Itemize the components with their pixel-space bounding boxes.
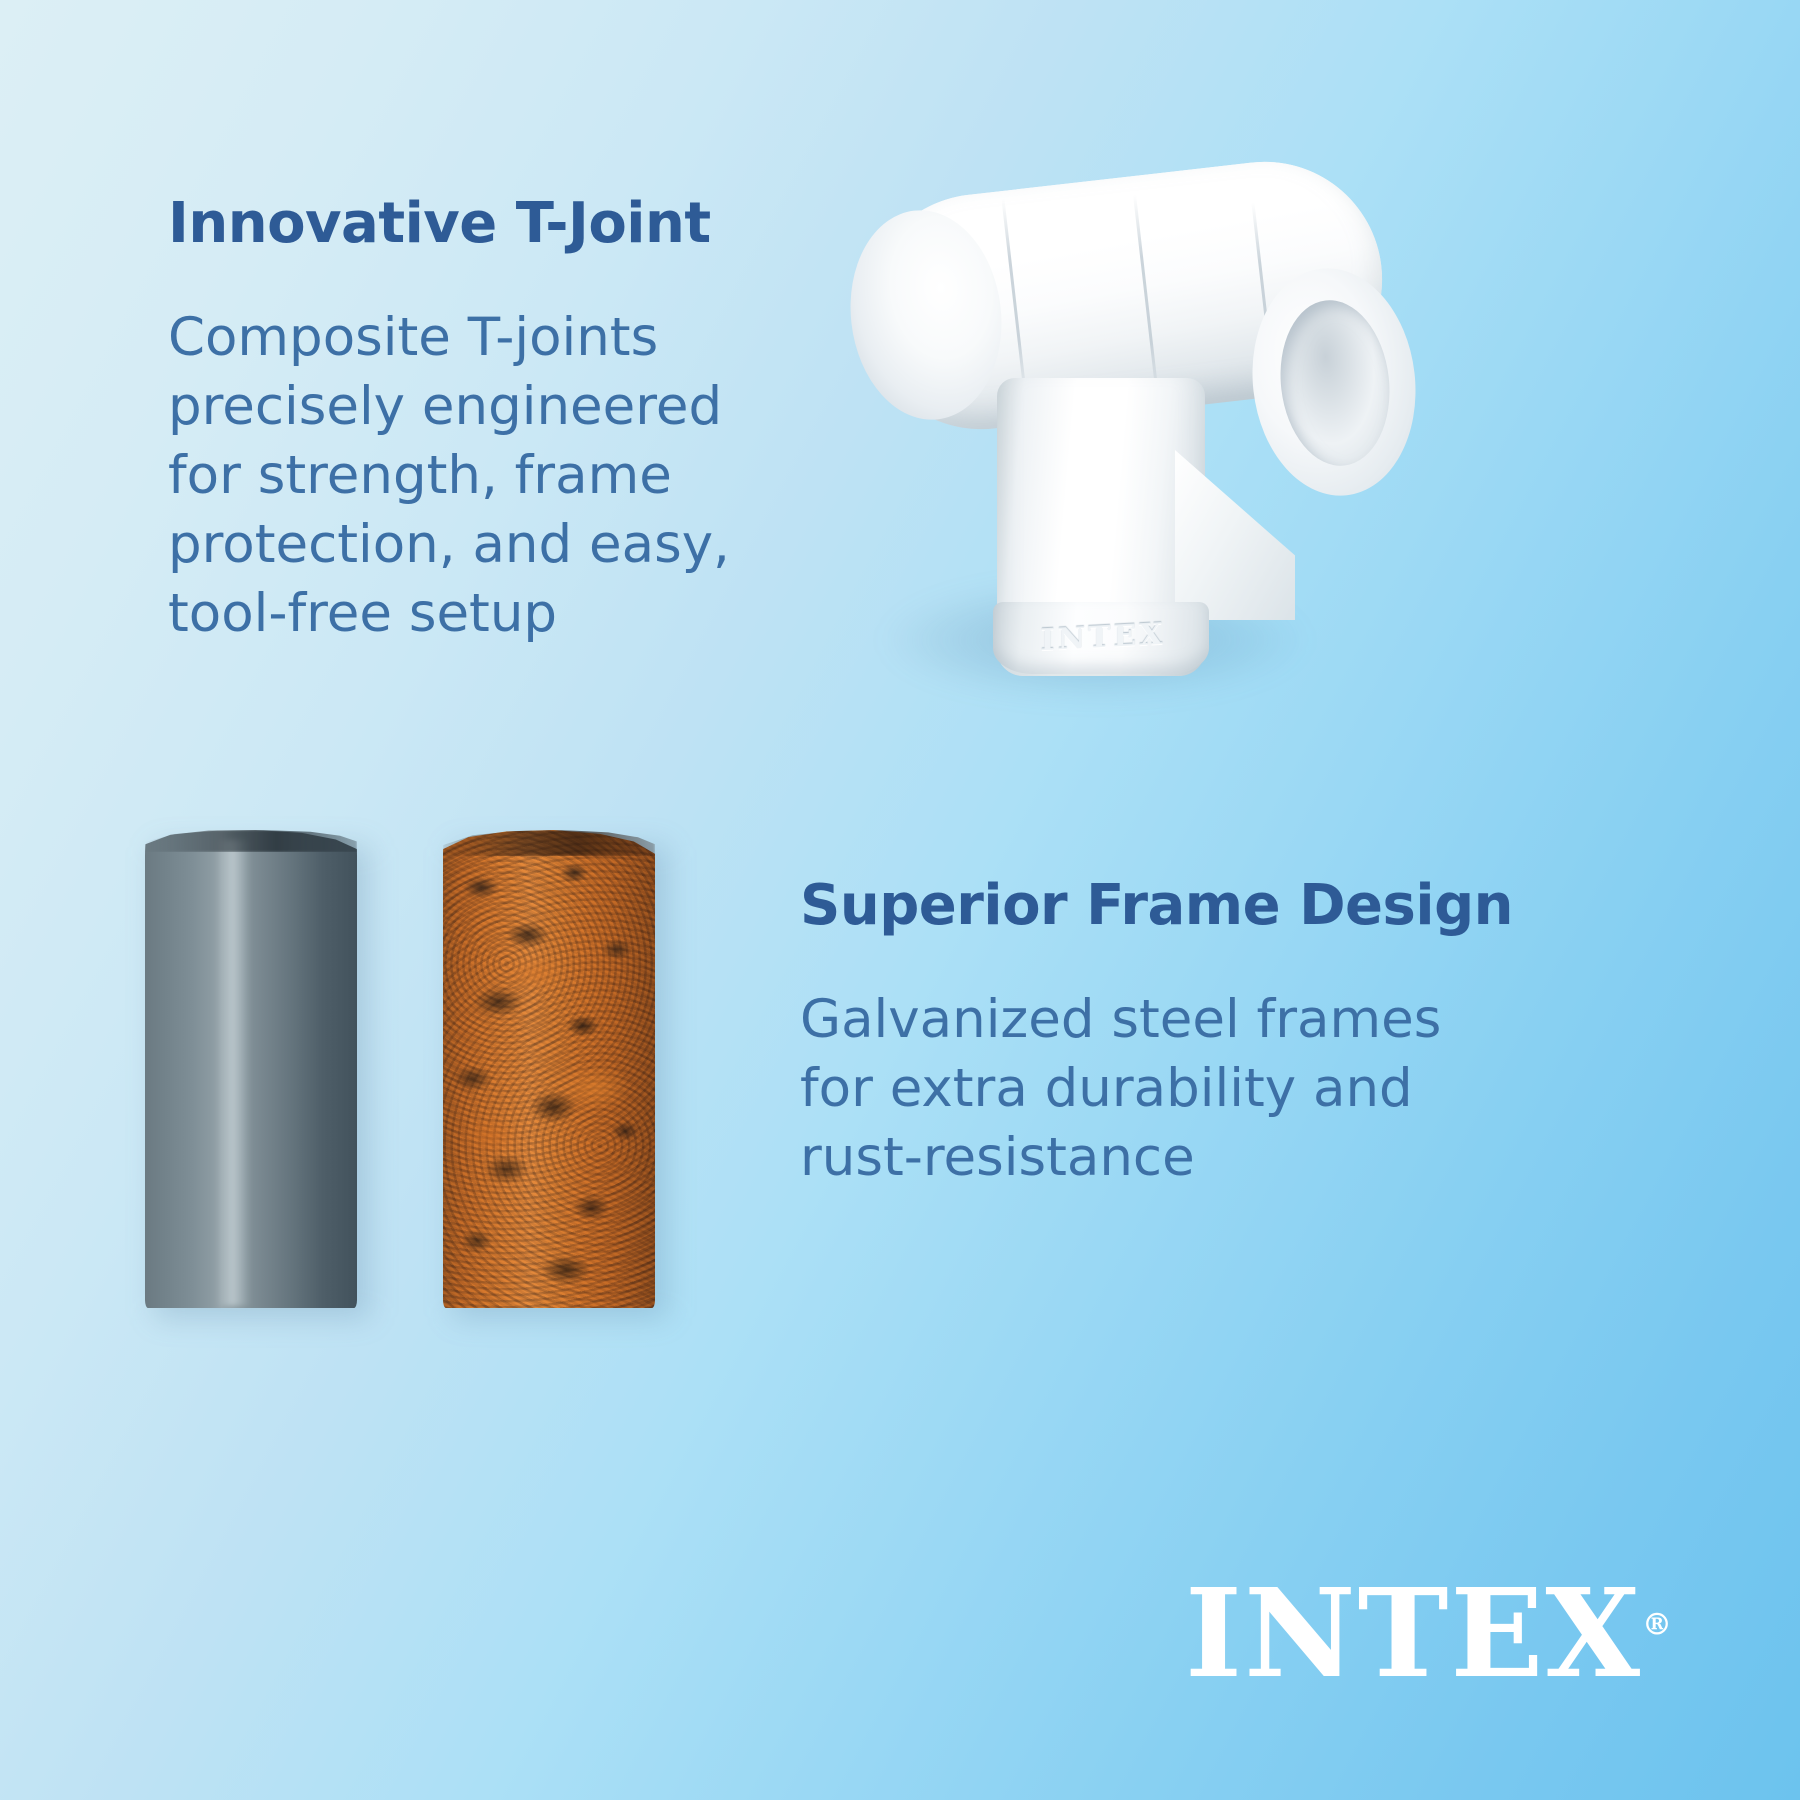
registered-trademark-symbol: ® [1642, 1607, 1672, 1642]
frame-design-headline: Superior Frame Design [800, 878, 1500, 934]
infographic-canvas: Innovative T-Joint Composite T-joints pr… [0, 0, 1800, 1800]
feature-block-t-joint: Innovative T-Joint Composite T-joints pr… [168, 196, 788, 648]
t-joint-body-line-4: protection, and easy, [168, 511, 788, 580]
t-joint-gusset-fillet [1175, 450, 1295, 620]
t-joint-body-text: Composite T-joints precisely engineered … [168, 304, 788, 648]
tube-comparison-image [145, 830, 725, 1330]
frame-design-body-line-2: for extra durability and [800, 1055, 1500, 1124]
t-joint-body-line-3: for strength, frame [168, 442, 788, 511]
tube-surface [145, 830, 357, 1308]
rusted-steel-tube [443, 830, 655, 1308]
tube-surface [443, 830, 655, 1308]
feature-block-frame-design: Superior Frame Design Galvanized steel f… [800, 878, 1500, 1193]
tube-top-edge [443, 830, 655, 856]
frame-design-body-line-3: rust-resistance [800, 1124, 1500, 1193]
t-joint-headline: Innovative T-Joint [168, 196, 788, 252]
frame-design-body-text: Galvanized steel frames for extra durabi… [800, 986, 1500, 1193]
t-joint-body-line-2: precisely engineered [168, 373, 788, 442]
intex-wordmark: INTEX [1185, 1561, 1642, 1705]
intex-logo: INTEX® [1185, 1572, 1672, 1694]
t-joint-body-line-5: tool-free setup [168, 580, 788, 649]
t-joint-body-line-1: Composite T-joints [168, 304, 788, 373]
galvanized-steel-tube [145, 830, 357, 1308]
frame-design-body-line-1: Galvanized steel frames [800, 986, 1500, 1055]
tube-top-edge [145, 830, 357, 852]
tube-highlight [217, 840, 251, 1306]
t-joint-product-image: INTEX [845, 150, 1445, 710]
